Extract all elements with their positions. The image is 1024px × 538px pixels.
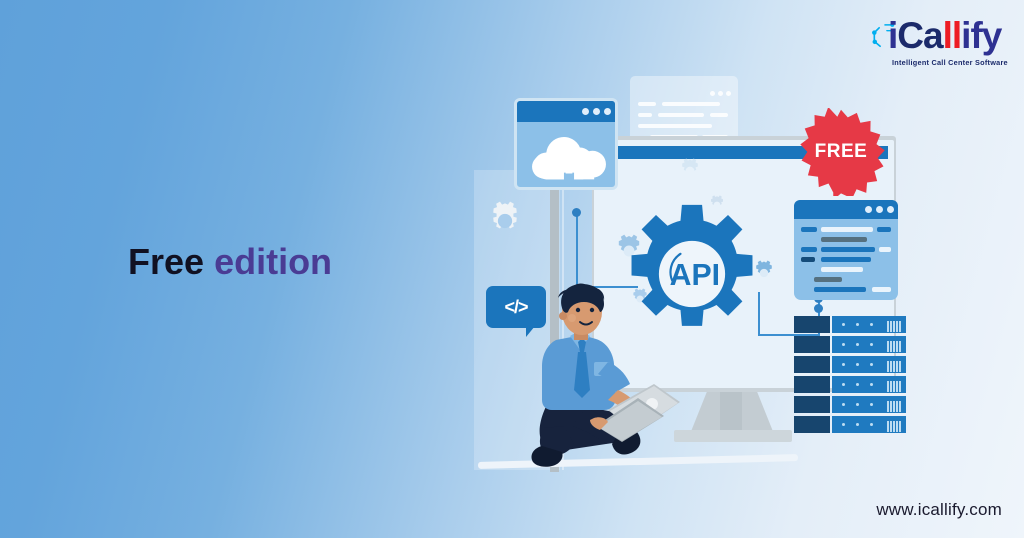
window-title-bar xyxy=(517,101,615,122)
headline-word-edition: edition xyxy=(214,241,332,282)
free-badge-label: FREE xyxy=(797,108,885,196)
logo-tagline: Intelligent Call Center Software xyxy=(892,58,1008,67)
connector-dot xyxy=(814,304,823,313)
decorative-gear-icon xyxy=(484,200,526,242)
free-starburst-badge-icon: FREE xyxy=(797,108,885,196)
api-illustration: API </> xyxy=(462,40,932,500)
server-unit xyxy=(794,336,906,353)
server-unit xyxy=(794,396,906,413)
promo-banner: API </> xyxy=(0,0,1024,538)
code-window-icon xyxy=(794,200,898,300)
headline-word-free: Free xyxy=(128,241,204,282)
connector-line xyxy=(758,292,760,336)
server-rack-icon xyxy=(794,316,906,434)
window-dots xyxy=(707,83,731,101)
logo-letter-y: y xyxy=(982,15,1002,56)
logo-letter-f: f xyxy=(970,15,981,56)
server-unit xyxy=(794,376,906,393)
person-with-laptop-icon xyxy=(500,278,700,478)
decorative-gear-icon xyxy=(677,158,703,184)
icallify-logo[interactable]: iCallify Intelligent Call Center Softwar… xyxy=(866,14,1008,72)
logo-letters-ll: ll xyxy=(943,15,962,56)
website-url[interactable]: www.icallify.com xyxy=(876,500,1002,520)
server-unit xyxy=(794,356,906,373)
browser-window-icon xyxy=(514,98,618,190)
connector-dot xyxy=(572,208,581,217)
logo-letter-i: i xyxy=(888,15,897,56)
logo-wordmark: iCallify xyxy=(888,14,1001,58)
server-unit xyxy=(794,316,906,333)
logo-letter-c: C xyxy=(897,15,923,56)
server-unit xyxy=(794,416,906,433)
logo-letter-a: a xyxy=(923,15,943,56)
page-title: Free edition xyxy=(128,240,332,284)
window-title-bar xyxy=(794,200,898,219)
cloud-upload-icon xyxy=(527,127,611,183)
